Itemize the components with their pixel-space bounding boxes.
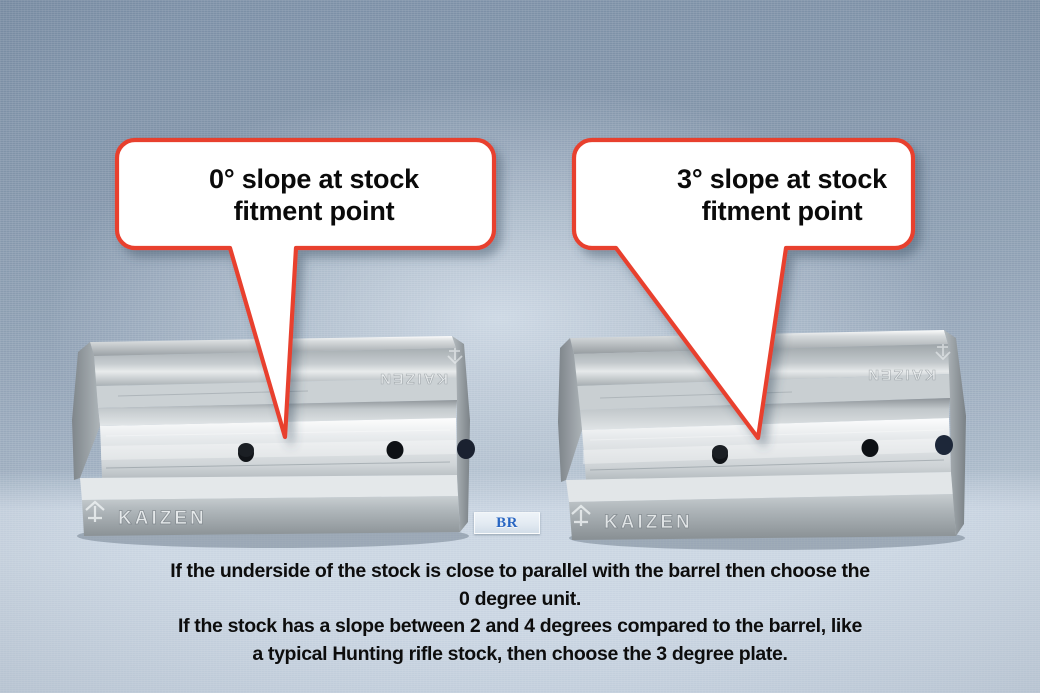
product-comparison-image: KAIZEN KAIZEN [0, 0, 1040, 693]
callout-3-degree: 3° slope at stock fitment point [556, 128, 976, 458]
callout-0-degree-text: 0° slope at stock fitment point [128, 164, 500, 228]
svg-text:KAIZEN: KAIZEN [604, 512, 693, 533]
caption-block: If the underside of the stock is close t… [0, 558, 1040, 669]
caption-line-1: If the underside of the stock is close t… [20, 558, 1020, 586]
svg-text:KAIZEN: KAIZEN [118, 508, 207, 529]
callout-3-degree-text: 3° slope at stock fitment point [596, 164, 968, 228]
callout-0-degree: 0° slope at stock fitment point [104, 128, 524, 458]
br-logo-text: BR [496, 515, 518, 532]
caption-line-4: a typical Hunting rifle stock, then choo… [20, 641, 1020, 669]
caption-line-2: 0 degree unit. [20, 586, 1020, 614]
caption-line-3: If the stock has a slope between 2 and 4… [20, 613, 1020, 641]
br-logo-sticker: BR [474, 512, 540, 534]
